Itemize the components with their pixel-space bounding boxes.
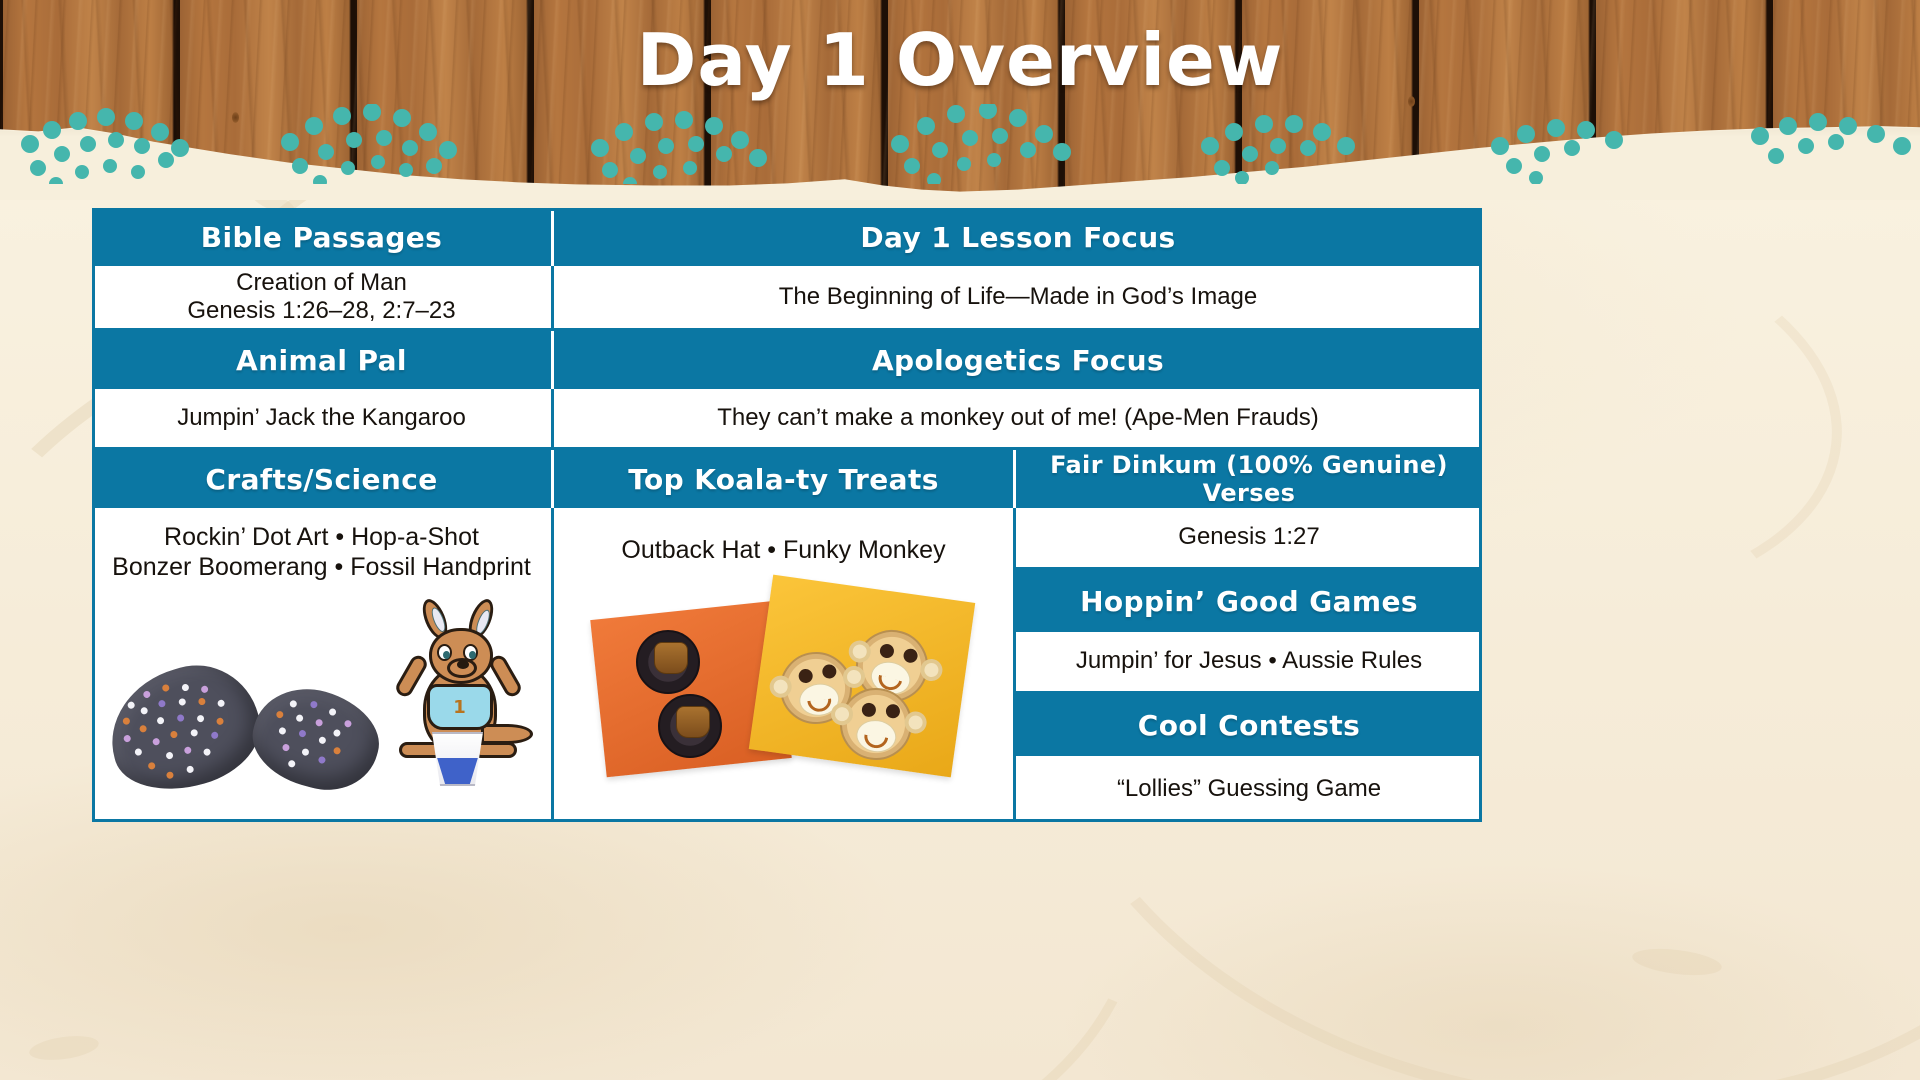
- outback-hat-funky-monkey-snacks-image: [584, 568, 984, 778]
- rock-dots: [95, 651, 272, 806]
- kangaroo-arm-left: [393, 653, 430, 700]
- crafts-line-1: Rockin’ Dot Art • Hop-a-Shot: [112, 522, 531, 552]
- kangaroo-shirt-number: 1: [430, 697, 490, 718]
- kangaroo-inner-ear: [429, 606, 448, 634]
- table-row: Jumpin’ Jack the Kangaroo They can’t mak…: [92, 389, 1482, 450]
- decorative-blob: [28, 1032, 100, 1064]
- crafts-images: 1: [102, 592, 541, 787]
- cell-apologetics-focus: They can’t make a monkey out of me! (Ape…: [554, 389, 1482, 450]
- kangaroo-cup: [429, 732, 487, 786]
- page-title: Day 1 Overview: [0, 18, 1920, 102]
- table-header-row-1: Bible Passages Day 1 Lesson Focus: [92, 208, 1482, 266]
- rock-dots: [242, 675, 390, 802]
- bible-passage-reference: Genesis 1:26–28, 2:7–23: [187, 297, 455, 325]
- kangaroo-tail: [481, 724, 533, 744]
- header-apologetics-focus: Apologetics Focus: [554, 331, 1482, 389]
- monkey-eye: [860, 701, 876, 717]
- header-cool-contests: Cool Contests: [1016, 694, 1482, 756]
- cell-lesson-focus: The Beginning of Life—Made in God’s Imag…: [554, 266, 1482, 331]
- table-row: Creation of Man Genesis 1:26–28, 2:7–23 …: [92, 266, 1482, 331]
- monkey-eye: [901, 647, 918, 664]
- cell-memory-verse: Genesis 1:27: [1016, 508, 1482, 570]
- crafts-line-2: Bonzer Boomerang • Fossil Handprint: [112, 552, 531, 582]
- kangaroo-nose: [457, 660, 469, 669]
- cell-contests-list: “Lollies” Guessing Game: [1016, 756, 1482, 822]
- cup-water: [435, 758, 479, 784]
- cell-top-koala-ty-treats: Outback Hat • Funky Monkey: [554, 508, 1016, 822]
- monkey-eye: [797, 668, 812, 683]
- kangaroo-eye-right: [463, 644, 478, 661]
- cell-bible-passages: Creation of Man Genesis 1:26–28, 2:7–23: [92, 266, 554, 331]
- table-row: Rockin’ Dot Art • Hop-a-Shot Bonzer Boom…: [92, 508, 1482, 822]
- cell-crafts-science: Rockin’ Dot Art • Hop-a-Shot Bonzer Boom…: [92, 508, 554, 822]
- painted-rock-large: [95, 651, 272, 806]
- painted-dot-art-rocks-image: [109, 669, 379, 787]
- cell-animal-pal: Jumpin’ Jack the Kangaroo: [92, 389, 554, 450]
- crafts-list: Rockin’ Dot Art • Hop-a-Shot Bonzer Boom…: [112, 522, 531, 582]
- monkey-eye: [821, 663, 836, 678]
- table-header-row-3: Crafts/Science Top Koala-ty Treats Fair …: [92, 450, 1482, 508]
- kangaroo-shirt: 1: [427, 684, 493, 730]
- header-day1-lesson-focus: Day 1 Lesson Focus: [554, 208, 1482, 266]
- bible-passage-title: Creation of Man: [187, 269, 455, 297]
- table-header-row-2: Animal Pal Apologetics Focus: [92, 331, 1482, 389]
- header-top-koala-ty-treats: Top Koala-ty Treats: [554, 450, 1016, 508]
- jumpin-jack-kangaroo-mascot-image: 1: [385, 592, 535, 787]
- monkey-eye: [878, 642, 895, 659]
- header-bible-passages: Bible Passages: [92, 208, 554, 266]
- outback-hat-snack: [636, 630, 700, 694]
- kangaroo-eye-left: [437, 644, 452, 661]
- overview-table: Bible Passages Day 1 Lesson Focus Creati…: [92, 208, 1482, 822]
- header-animal-pal: Animal Pal: [92, 331, 554, 389]
- decorative-blob: [1631, 945, 1723, 980]
- aboriginal-dot-pattern: [0, 104, 1920, 184]
- kangaroo-pupil: [443, 651, 450, 659]
- header-crafts-science: Crafts/Science: [92, 450, 554, 508]
- header-hoppin-good-games: Hoppin’ Good Games: [1016, 570, 1482, 632]
- monkey-eye: [885, 703, 901, 719]
- outback-hat-snack: [658, 694, 722, 758]
- header-fair-dinkum-verses: Fair Dinkum (100% Genuine) Verses: [1016, 450, 1482, 508]
- verses-games-contests-column: Genesis 1:27 Hoppin’ Good Games Jumpin’ …: [1016, 508, 1482, 822]
- kangaroo-pupil: [469, 651, 476, 659]
- painted-rock-small: [242, 675, 390, 802]
- treats-list: Outback Hat • Funky Monkey: [621, 522, 945, 566]
- cell-games-list: Jumpin’ for Jesus • Aussie Rules: [1016, 632, 1482, 694]
